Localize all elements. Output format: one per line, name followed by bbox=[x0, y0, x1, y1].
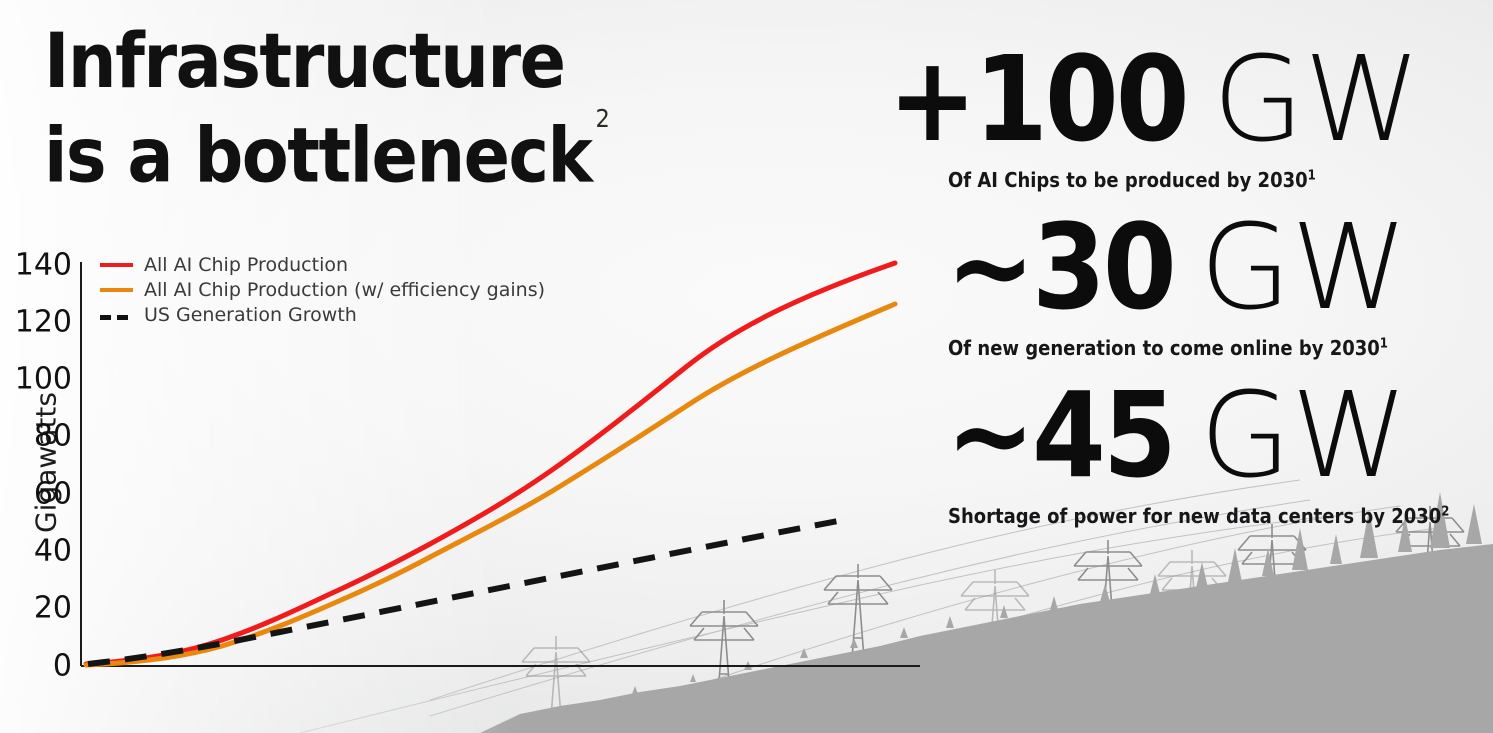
stat-value-row: ~30 GW bbox=[880, 208, 1480, 326]
stat-caption-text-2: Shortage of power for new data centers b… bbox=[948, 504, 1441, 528]
legend-item-all-ai-chip-production-efficiency[interactable]: All AI Chip Production (w/ efficiency ga… bbox=[100, 277, 545, 302]
title-line-2-text: is a bottleneck bbox=[44, 110, 592, 199]
title-line-1: Infrastructure bbox=[44, 18, 764, 104]
page-title: Infrastructure is a bottleneck2 bbox=[44, 18, 764, 198]
legend-label-2: US Generation Growth bbox=[144, 304, 357, 326]
stat-caption-text-1: Of new generation to come online by 2030 bbox=[948, 336, 1380, 360]
title-footnote-marker: 2 bbox=[596, 104, 610, 133]
stat-card-new-generation: ~30 GW Of new generation to come online … bbox=[880, 208, 1480, 360]
stat-caption-0: Of AI Chips to be produced by 20301 bbox=[880, 168, 1480, 192]
legend-swatch-dashed-black bbox=[100, 312, 133, 317]
stat-card-ai-chips: +100 GW Of AI Chips to be produced by 20… bbox=[880, 40, 1480, 192]
stat-caption-1: Of new generation to come online by 2030… bbox=[880, 336, 1480, 360]
stat-number-2: ~45 bbox=[946, 376, 1174, 494]
legend-label-0: All AI Chip Production bbox=[144, 254, 348, 276]
chart-legend: All AI Chip Production All AI Chip Produ… bbox=[100, 252, 545, 327]
title-line-2: is a bottleneck2 bbox=[44, 104, 764, 198]
legend-label-1: All AI Chip Production (w/ efficiency ga… bbox=[144, 279, 545, 301]
gigawatts-line-chart: Gigawatts 140 120 100 80 60 40 20 0 bbox=[0, 236, 960, 716]
stat-unit-0: GW bbox=[1213, 40, 1421, 158]
stats-column: +100 GW Of AI Chips to be produced by 20… bbox=[880, 40, 1480, 544]
stat-caption-footnote-2: 2 bbox=[1441, 504, 1449, 519]
stat-number-0: +100 bbox=[888, 40, 1187, 158]
stat-unit-1: GW bbox=[1200, 208, 1408, 326]
legend-swatch-red bbox=[100, 263, 133, 267]
stat-caption-text-0: Of AI Chips to be produced by 2030 bbox=[948, 168, 1308, 192]
stat-caption-2: Shortage of power for new data centers b… bbox=[880, 504, 1480, 528]
stat-value-row: +100 GW bbox=[880, 40, 1480, 158]
legend-swatch-orange bbox=[100, 288, 133, 292]
stat-caption-footnote-0: 1 bbox=[1308, 168, 1316, 183]
stat-number-1: ~30 bbox=[946, 208, 1174, 326]
legend-item-all-ai-chip-production[interactable]: All AI Chip Production bbox=[100, 252, 545, 277]
stat-card-power-shortage: ~45 GW Shortage of power for new data ce… bbox=[880, 376, 1480, 528]
stat-unit-2: GW bbox=[1200, 376, 1408, 494]
stat-caption-footnote-1: 1 bbox=[1380, 336, 1388, 351]
slide-canvas: Infrastructure is a bottleneck2 Gigawatt… bbox=[0, 0, 1493, 733]
series-line-all-ai-chip-production-efficiency bbox=[86, 304, 895, 665]
legend-item-us-generation-growth[interactable]: US Generation Growth bbox=[100, 302, 545, 327]
stat-value-row: ~45 GW bbox=[880, 376, 1480, 494]
